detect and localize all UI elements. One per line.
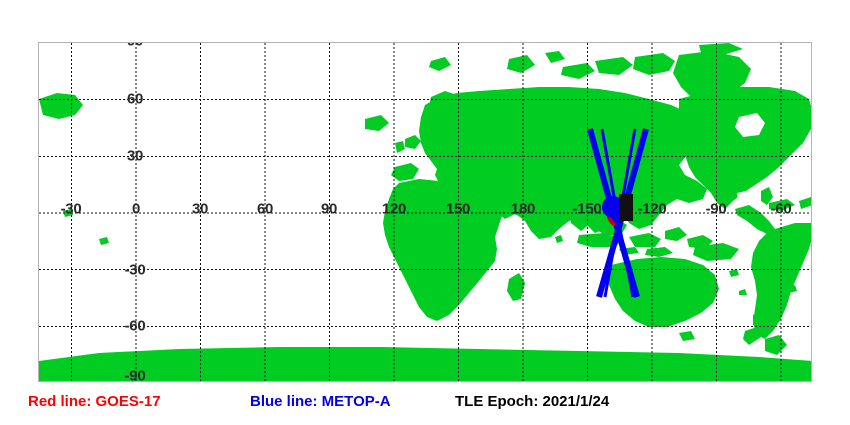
world-map-panel: 90 60 30 -30 -60 -90 -30 0 30 60 90 120 … <box>38 42 812 382</box>
legend-tle-epoch: TLE Epoch: 2021/1/24 <box>455 393 609 410</box>
world-map-canvas <box>39 43 812 382</box>
legend-footer: Red line: GOES-17 Blue line: METOP-A TLE… <box>0 393 850 425</box>
legend-goes17: Red line: GOES-17 <box>28 393 161 410</box>
legend-metop-a: Blue line: METOP-A <box>250 393 391 410</box>
sub-satellite-label-block <box>619 194 633 221</box>
